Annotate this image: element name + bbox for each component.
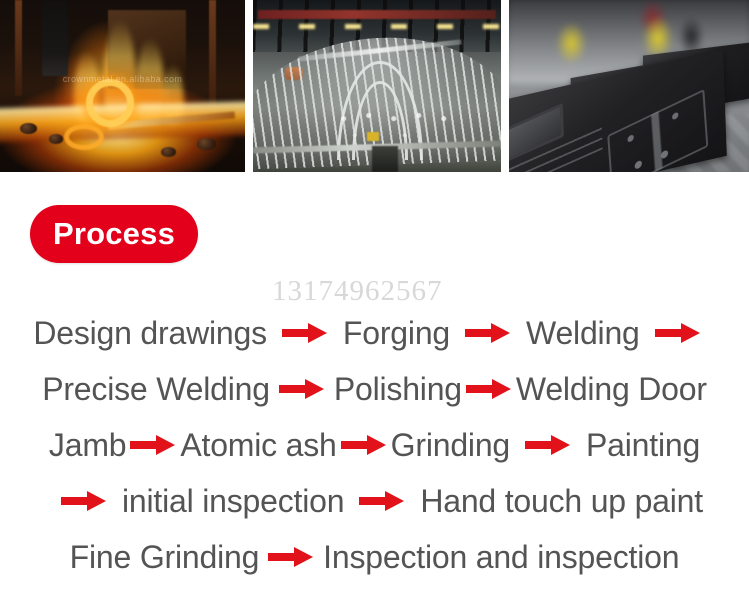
process-flow-list: Design drawingsForgingWeldingPrecise Wel… xyxy=(0,305,749,585)
process-flow-line: initial inspectionHand touch up paint xyxy=(0,473,749,529)
process-step: Painting xyxy=(586,427,700,464)
black-door-panels-photo xyxy=(509,0,749,172)
red-steel-beam xyxy=(258,10,496,19)
forge-scene: crownmetal.en.alibaba.com xyxy=(0,0,245,172)
ceiling-lights xyxy=(253,24,501,29)
right-arrow-icon xyxy=(61,488,107,514)
process-step: Welding xyxy=(526,315,640,352)
process-step: Jamb xyxy=(49,427,126,464)
process-step: Polishing xyxy=(334,371,462,408)
photo-watermark: crownmetal.en.alibaba.com xyxy=(63,74,183,84)
process-step: initial inspection xyxy=(122,483,344,520)
phone-number-watermark: 13174962567 xyxy=(272,275,443,308)
forge-post-left xyxy=(15,0,22,96)
process-step: Grinding xyxy=(391,427,510,464)
coal-lump-4 xyxy=(161,147,176,157)
steel-canopy-frame-photo xyxy=(253,0,501,172)
coal-lump-1 xyxy=(20,123,37,134)
forging-fire-photo: crownmetal.en.alibaba.com xyxy=(0,0,245,172)
right-arrow-icon xyxy=(130,432,176,458)
coal-lump-3 xyxy=(197,138,216,150)
process-step: Design drawings xyxy=(33,315,267,352)
process-badge-label: Process xyxy=(53,216,175,252)
process-step: Fine Grinding xyxy=(70,539,260,576)
process-badge: Process xyxy=(30,205,198,263)
yellow-equipment-box xyxy=(367,132,379,141)
forge-post-right xyxy=(209,0,216,114)
door-scroll-ornament xyxy=(607,89,708,172)
process-flow-line: Design drawingsForgingWelding xyxy=(0,305,749,361)
right-arrow-icon xyxy=(282,320,328,346)
process-flow-line: JambAtomic ashGrindingPainting xyxy=(0,417,749,473)
forge-worker-silhouette xyxy=(42,0,68,76)
door-assembly-scene xyxy=(509,0,749,172)
process-flow-line: Fine GrindingInspection and inspection xyxy=(0,529,749,585)
process-step: Hand touch up paint xyxy=(420,483,703,520)
process-step: Forging xyxy=(343,315,450,352)
process-infographic-page: crownmetal.en.alibaba.com xyxy=(0,0,749,597)
coal-lump-2 xyxy=(49,134,63,144)
canopy-scene xyxy=(253,0,501,172)
process-step: Inspection and inspection xyxy=(323,539,679,576)
right-arrow-icon xyxy=(655,320,701,346)
hot-steel-ring-2 xyxy=(64,124,104,150)
process-step: Welding Door xyxy=(516,371,707,408)
process-flow-line: Precise WeldingPolishingWelding Door xyxy=(0,361,749,417)
workshop-cart xyxy=(372,146,398,172)
right-arrow-icon xyxy=(341,432,387,458)
right-arrow-icon xyxy=(268,544,314,570)
process-step: Precise Welding xyxy=(42,371,270,408)
right-arrow-icon xyxy=(279,376,325,402)
right-arrow-icon xyxy=(359,488,405,514)
right-arrow-icon xyxy=(525,432,571,458)
right-arrow-icon xyxy=(465,320,511,346)
process-step: Atomic ash xyxy=(180,427,336,464)
right-arrow-icon xyxy=(466,376,512,402)
hot-steel-ring xyxy=(86,79,134,127)
photo-strip: crownmetal.en.alibaba.com xyxy=(0,0,749,172)
